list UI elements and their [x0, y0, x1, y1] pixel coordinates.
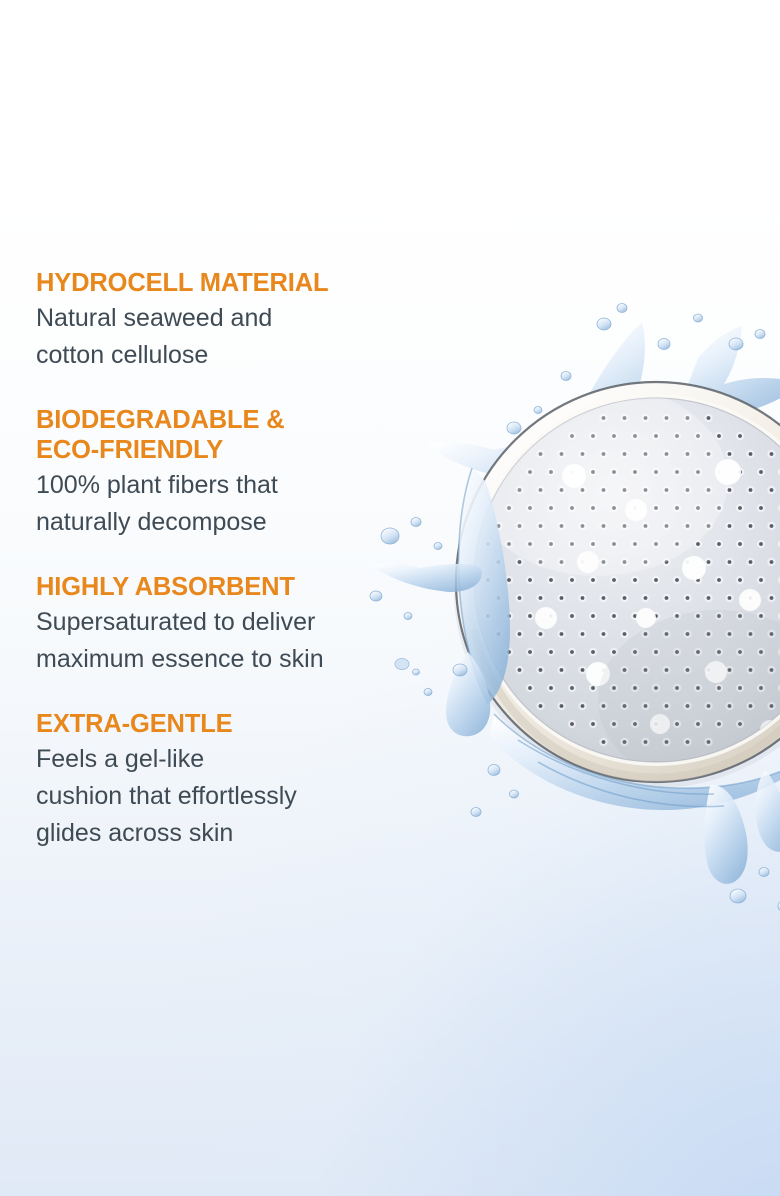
feature-list: HYDROCELL MATERIAL Natural seaweed and c… — [36, 268, 428, 852]
feature-item-biodegradable-eco-friendly: BIODEGRADABLE & ECO-FRIENDLY 100% plant … — [36, 405, 428, 541]
feature-title: HIGHLY ABSORBENT — [36, 572, 428, 602]
feature-body: Feels a gel-like cushion that effortless… — [36, 741, 428, 852]
stray-droplet-icon — [392, 652, 416, 676]
feature-item-extra-gentle: EXTRA-GENTLE Feels a gel-like cushion th… — [36, 709, 428, 852]
feature-title: BIODEGRADABLE & ECO-FRIENDLY — [36, 405, 428, 465]
product-feature-panel: HYDROCELL MATERIAL Natural seaweed and c… — [0, 0, 780, 1196]
feature-item-hydrocell-material: HYDROCELL MATERIAL Natural seaweed and c… — [36, 268, 428, 374]
feature-body: Supersaturated to deliver maximum essenc… — [36, 604, 428, 678]
feature-item-highly-absorbent: HIGHLY ABSORBENT Supersaturated to deliv… — [36, 572, 428, 678]
feature-body: Natural seaweed and cotton cellulose — [36, 300, 428, 374]
feature-body: 100% plant fibers that naturally decompo… — [36, 467, 428, 541]
feature-title: EXTRA-GENTLE — [36, 709, 428, 739]
product-image — [398, 300, 780, 900]
product-illustration — [398, 300, 780, 900]
feature-title: HYDROCELL MATERIAL — [36, 268, 428, 298]
